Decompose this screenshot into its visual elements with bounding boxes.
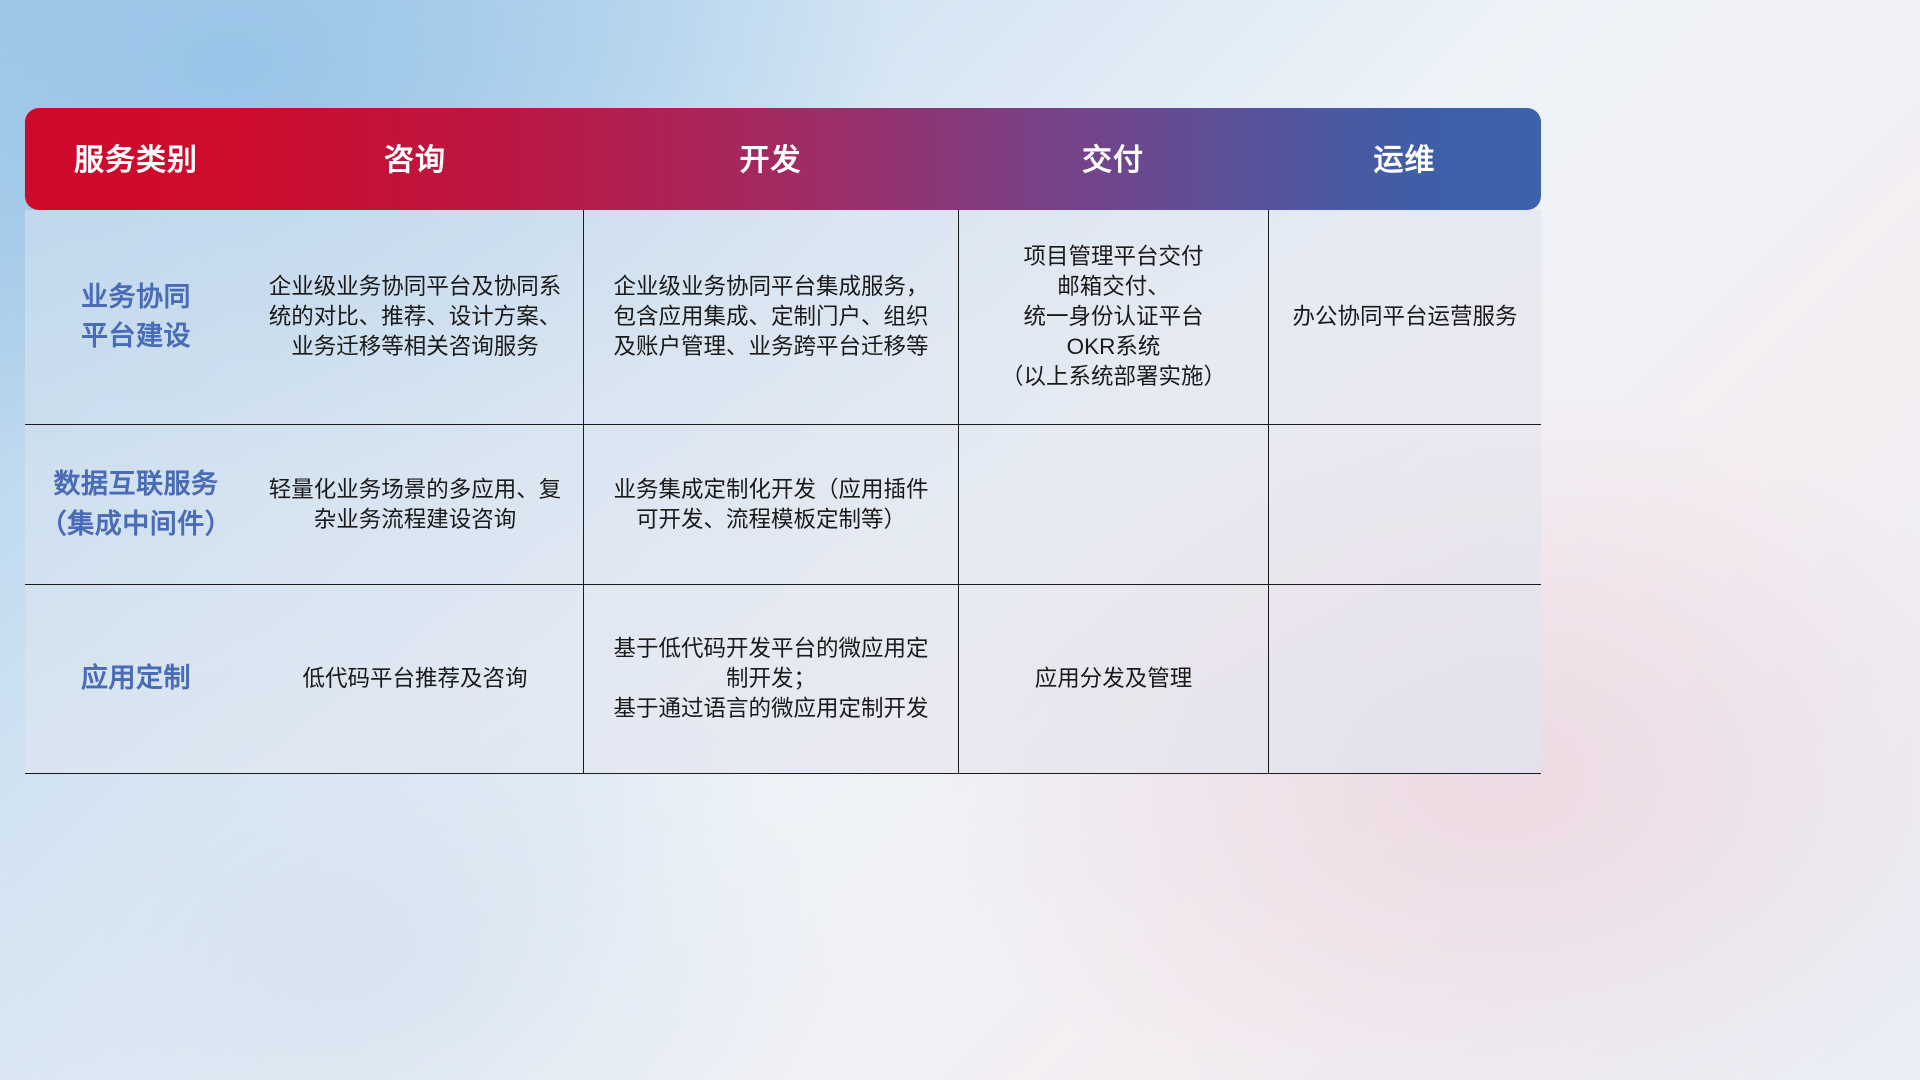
column-header-operations-label: 运维 <box>1374 135 1436 179</box>
column-header-consulting-label: 咨询 <box>384 135 446 179</box>
row-category-cell: 业务协同 平台建设 <box>25 210 247 424</box>
table-row: 业务协同 平台建设 企业级业务协同平台及协同系 统的对比、推荐、设计方案、 业务… <box>25 210 1541 424</box>
column-header-category-label: 服务类别 <box>74 135 198 179</box>
cell-operations: 办公协同平台运营服务 <box>1268 210 1541 424</box>
cell-development: 企业级业务协同平台集成服务， 包含应用集成、定制门户、组织 及账户管理、业务跨平… <box>583 210 958 424</box>
cell-delivery: 应用分发及管理 <box>958 585 1268 773</box>
cell-development: 基于低代码开发平台的微应用定 制开发； 基于通过语言的微应用定制开发 <box>583 585 958 773</box>
cell-operations <box>1268 425 1541 584</box>
row-category-cell: 数据互联服务 （集成中间件） <box>25 425 247 584</box>
column-header-consulting: 咨询 <box>247 108 583 210</box>
cell-delivery <box>958 425 1268 584</box>
cell-consulting: 低代码平台推荐及咨询 <box>247 585 583 773</box>
column-header-delivery-label: 交付 <box>1082 135 1144 179</box>
row-category-cell: 应用定制 <box>25 585 247 773</box>
slide-canvas: 服务类别 咨询 开发 交付 运维 业务协同 平台建设 企业级业务协同平台及协同系… <box>0 0 1920 1080</box>
column-header-development: 开发 <box>583 108 958 210</box>
column-header-delivery: 交付 <box>958 108 1268 210</box>
table-header-row: 服务类别 咨询 开发 交付 运维 <box>25 108 1541 210</box>
table-row: 数据互联服务 （集成中间件） 轻量化业务场景的多应用、复 杂业务流程建设咨询 业… <box>25 424 1541 584</box>
column-header-operations: 运维 <box>1268 108 1541 210</box>
cell-consulting: 企业级业务协同平台及协同系 统的对比、推荐、设计方案、 业务迁移等相关咨询服务 <box>247 210 583 424</box>
column-header-development-label: 开发 <box>740 135 802 179</box>
cell-delivery: 项目管理平台交付 邮箱交付、 统一身份认证平台 OKR系统 （以上系统部署实施） <box>958 210 1268 424</box>
cell-development: 业务集成定制化开发（应用插件 可开发、流程模板定制等） <box>583 425 958 584</box>
service-matrix-table: 服务类别 咨询 开发 交付 运维 业务协同 平台建设 企业级业务协同平台及协同系… <box>25 108 1541 773</box>
column-header-category: 服务类别 <box>25 108 247 210</box>
table-body: 业务协同 平台建设 企业级业务协同平台及协同系 统的对比、推荐、设计方案、 业务… <box>25 210 1541 774</box>
cell-consulting: 轻量化业务场景的多应用、复 杂业务流程建设咨询 <box>247 425 583 584</box>
table-row: 应用定制 低代码平台推荐及咨询 基于低代码开发平台的微应用定 制开发； 基于通过… <box>25 584 1541 773</box>
cell-operations <box>1268 585 1541 773</box>
